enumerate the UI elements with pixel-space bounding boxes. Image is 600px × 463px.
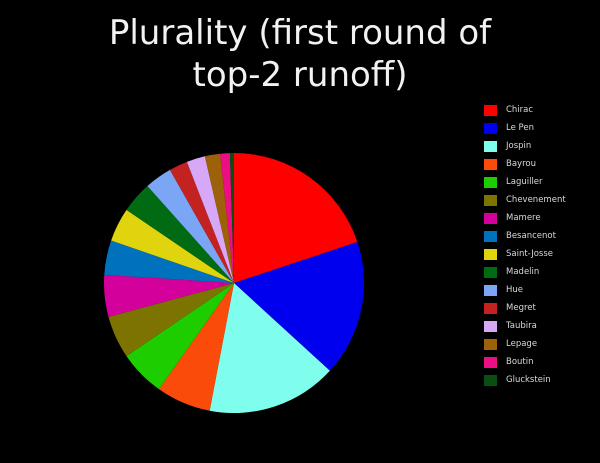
legend-item-label: Boutin (506, 357, 534, 368)
legend-item-label: Mamere (506, 213, 541, 224)
legend-item-label: Madelin (506, 267, 539, 278)
legend-item-label: Chevenement (506, 195, 566, 206)
legend-color-swatch (484, 123, 497, 134)
legend-color-swatch (484, 339, 497, 350)
legend-color-swatch (484, 357, 497, 368)
legend-item[interactable]: Chevenement (484, 191, 596, 209)
legend-item-label: Besancenot (506, 231, 556, 242)
pie-chart: Chirac 19.9Le Pen 16.9Jospin 16.2Bayrou … (104, 153, 364, 413)
legend-item-label: Taubira (506, 321, 537, 332)
chart-title: Plurality (first round of top-2 runoff) (0, 12, 600, 96)
legend-color-swatch (484, 159, 497, 170)
legend-color-swatch (484, 213, 497, 224)
legend-color-swatch (484, 195, 497, 206)
chart-figure: Plurality (first round of top-2 runoff) … (0, 0, 600, 463)
legend-item-label: Gluckstein (506, 375, 551, 386)
legend-item[interactable]: Boutin (484, 353, 596, 371)
legend-item-label: Chirac (506, 105, 533, 116)
legend-item-label: Saint-Josse (506, 249, 553, 260)
legend-item-label: Le Pen (506, 123, 534, 134)
legend-color-swatch (484, 267, 497, 278)
legend-color-swatch (484, 105, 497, 116)
legend-item[interactable]: Madelin (484, 263, 596, 281)
legend-item-label: Jospin (506, 141, 531, 152)
legend-item[interactable]: Saint-Josse (484, 245, 596, 263)
legend-item[interactable]: Laguiller (484, 173, 596, 191)
legend-item[interactable]: Jospin (484, 137, 596, 155)
legend-item[interactable]: Taubira (484, 317, 596, 335)
legend-item[interactable]: Lepage (484, 335, 596, 353)
legend-color-swatch (484, 285, 497, 296)
legend-item-label: Bayrou (506, 159, 536, 170)
legend-color-swatch (484, 177, 497, 188)
chart-legend: ChiracLe PenJospinBayrouLaguillerChevene… (484, 101, 596, 389)
legend-color-swatch (484, 375, 497, 386)
legend-color-swatch (484, 321, 497, 332)
legend-item[interactable]: Megret (484, 299, 596, 317)
legend-item[interactable]: Le Pen (484, 119, 596, 137)
legend-item[interactable]: Gluckstein (484, 371, 596, 389)
legend-item[interactable]: Chirac (484, 101, 596, 119)
legend-item[interactable]: Mamere (484, 209, 596, 227)
legend-color-swatch (484, 249, 497, 260)
legend-color-swatch (484, 141, 497, 152)
legend-color-swatch (484, 231, 497, 242)
legend-item-label: Laguiller (506, 177, 543, 188)
legend-item[interactable]: Besancenot (484, 227, 596, 245)
legend-color-swatch (484, 303, 497, 314)
pie-chart-svg: Chirac 19.9Le Pen 16.9Jospin 16.2Bayrou … (104, 153, 364, 413)
legend-item-label: Hue (506, 285, 523, 296)
pie-slice-group: Chirac 19.9Le Pen 16.9Jospin 16.2Bayrou … (104, 153, 364, 413)
legend-item-label: Lepage (506, 339, 537, 350)
legend-item[interactable]: Bayrou (484, 155, 596, 173)
legend-item-label: Megret (506, 303, 536, 314)
legend-item[interactable]: Hue (484, 281, 596, 299)
